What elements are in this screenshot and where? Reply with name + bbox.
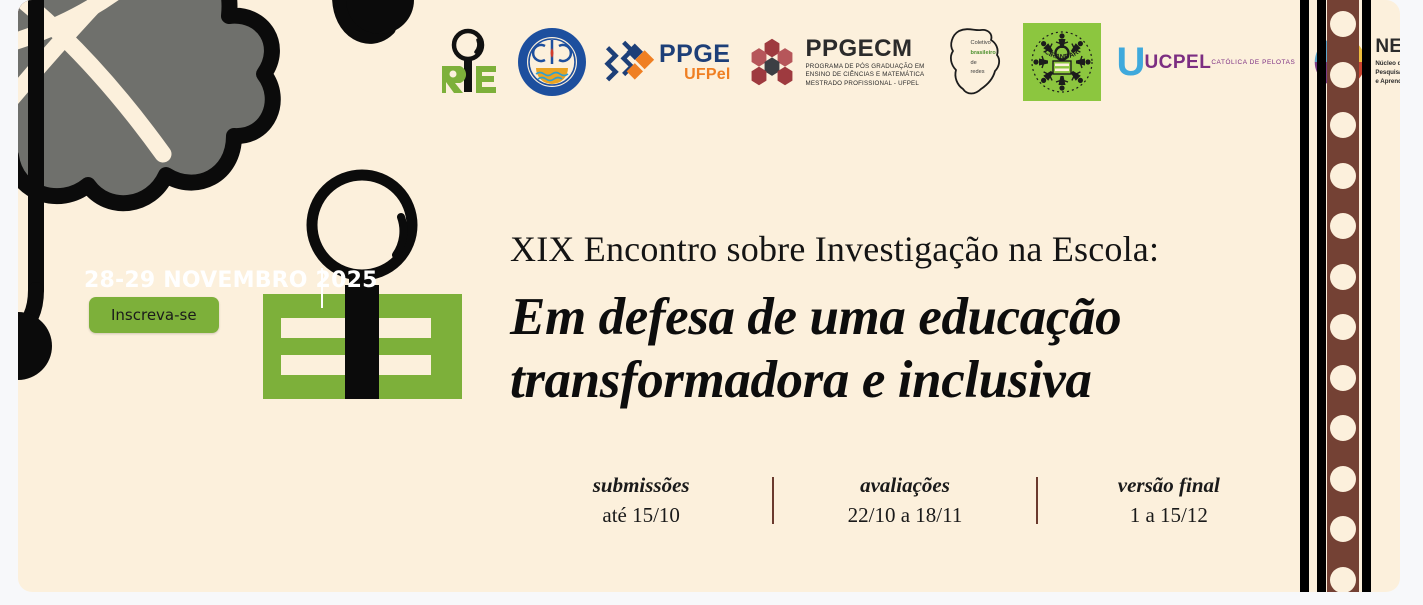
ucpel-name-label: UCPEL: [1144, 53, 1211, 72]
coletivo-brasileiro-de-redes-logo: Coletivo brasileiro de redes: [941, 25, 1007, 99]
map-word-4: redes: [971, 68, 996, 78]
film-hole: [1330, 213, 1356, 239]
film-hole: [1330, 314, 1356, 340]
ppge-sub-label: UFPel: [659, 67, 730, 83]
film-band: [1327, 0, 1359, 592]
ppgecm-sub-line-3: MESTRADO PROFISSIONAL - UFPEL: [805, 80, 924, 88]
map-word-2: brasileiro: [971, 49, 996, 59]
banner-card: PPGE UFPel PPGECM: [18, 0, 1400, 592]
event-date-label: 28-29 NOVEMBRO 2025: [84, 268, 378, 293]
film-line: [1300, 0, 1309, 592]
cirandar-logo: CIRANDAR: [1023, 23, 1101, 101]
ppge-ufpel-logo: PPGE UFPel: [604, 37, 730, 87]
film-hole: [1330, 415, 1356, 441]
film-hole: [1330, 466, 1356, 492]
film-hole: [1330, 62, 1356, 88]
rie-logo: [438, 26, 500, 98]
ufpel-logo: [516, 26, 588, 98]
deadlines-row: submissões até 15/10 avaliações 22/10 a …: [510, 473, 1300, 528]
deadline-versao-final: versão final 1 a 15/12: [1038, 473, 1300, 528]
ppgecm-main-label: PPGECM: [805, 36, 924, 61]
deadline-value: 22/10 a 18/11: [774, 503, 1036, 528]
film-hole: [1330, 264, 1356, 290]
film-hole: [1330, 365, 1356, 391]
film-line: [1362, 0, 1371, 592]
deadline-value: 1 a 15/12: [1038, 503, 1300, 528]
ppgecm-logo: PPGECM PROGRAMA DE PÓS GRADUAÇÃO EM ENSI…: [746, 36, 924, 88]
ppge-main-label: PPGE: [659, 42, 730, 67]
deadline-title: versão final: [1038, 473, 1300, 498]
deadline-submissoes: submissões até 15/10: [510, 473, 772, 528]
deadline-value: até 15/10: [510, 503, 772, 528]
signup-button[interactable]: Inscreva-se: [89, 297, 219, 333]
text-cursor-caret: [321, 268, 323, 308]
film-hole: [1330, 11, 1356, 37]
event-banner: PPGE UFPel PPGECM: [0, 0, 1423, 605]
ucpel-mark: U: [1117, 42, 1145, 82]
film-hole: [1330, 163, 1356, 189]
film-strip-decoration: [1300, 0, 1382, 592]
deadline-title: submissões: [510, 473, 772, 498]
svg-text:CIRANDAR: CIRANDAR: [1043, 49, 1080, 61]
ucpel-logo: U UCPEL CATÓLICA DE PELOTAS: [1117, 42, 1296, 82]
film-line: [1317, 0, 1326, 592]
event-edition-title: XIX Encontro sobre Investigação na Escol…: [510, 228, 1159, 270]
film-hole: [1330, 567, 1356, 593]
ppgecm-sub-line-2: ENSINO DE CIÊNCIAS E MATEMÁTICA: [805, 71, 924, 79]
film-hole: [1330, 516, 1356, 542]
event-theme-line-2: transformadora e inclusiva: [510, 349, 1300, 412]
cirandar-label: CIRANDAR: [1043, 49, 1080, 61]
ucpel-sub-label: CATÓLICA DE PELOTAS: [1211, 60, 1295, 66]
film-hole: [1330, 112, 1356, 138]
deadline-title: avaliações: [774, 473, 1036, 498]
partner-logo-row: PPGE UFPel PPGECM: [438, 18, 1278, 106]
map-word-3: de: [971, 59, 996, 69]
event-theme-title: Em defesa de uma educação transformadora…: [510, 286, 1300, 411]
deadline-avaliacoes: avaliações 22/10 a 18/11: [774, 473, 1036, 528]
map-word-1: Coletivo: [971, 39, 996, 49]
event-theme-line-1: Em defesa de uma educação: [510, 286, 1300, 349]
